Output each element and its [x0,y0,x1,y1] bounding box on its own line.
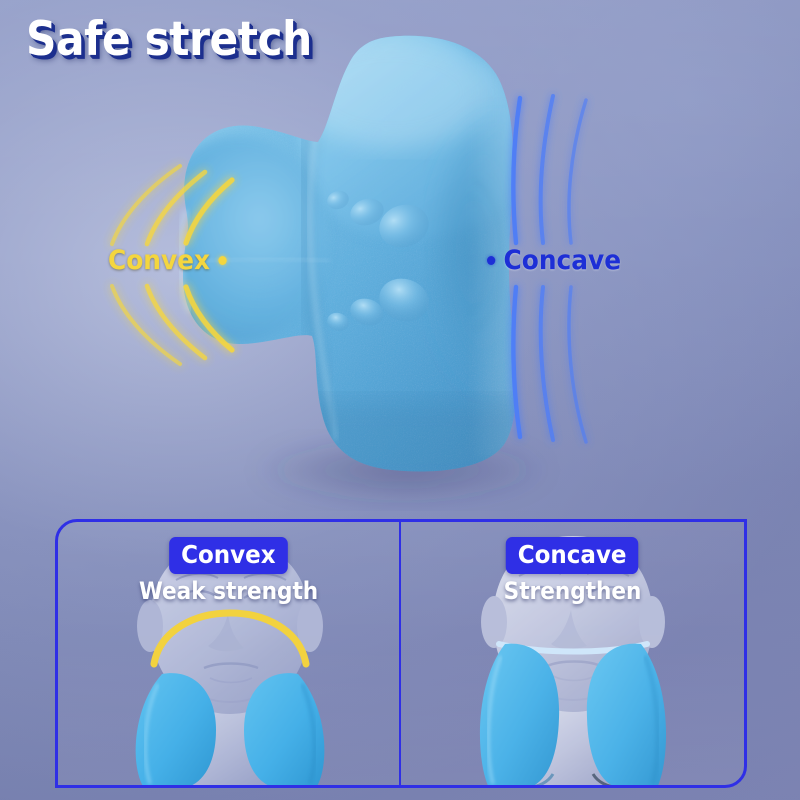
concave-sub-label: Strengthen [504,579,642,603]
callout-concave: Concave [487,247,621,274]
cell-convex-header: Convex Weak strength [58,537,399,603]
blue-dot-icon [487,256,495,265]
comparison-cell-convex: Convex Weak strength [58,522,401,785]
comparison-cell-concave: Concave Strengthen [401,522,744,785]
callout-concave-label: Concave [504,247,622,274]
yellow-dot-icon [218,256,226,265]
product-marketing-image: Safe stretch [0,0,800,800]
callout-convex-label: Convex [108,247,210,274]
convex-sub-label: Weak strength [139,579,318,603]
callout-convex: Convex [108,247,227,274]
ear-right [639,596,665,648]
convex-pill-label: Convex [169,537,287,574]
cell-concave-header: Concave Strengthen [401,537,744,603]
concave-pill-label: Concave [506,537,639,574]
page-title: Safe stretch [26,16,312,63]
comparison-frame: Convex Weak strength [55,519,747,788]
